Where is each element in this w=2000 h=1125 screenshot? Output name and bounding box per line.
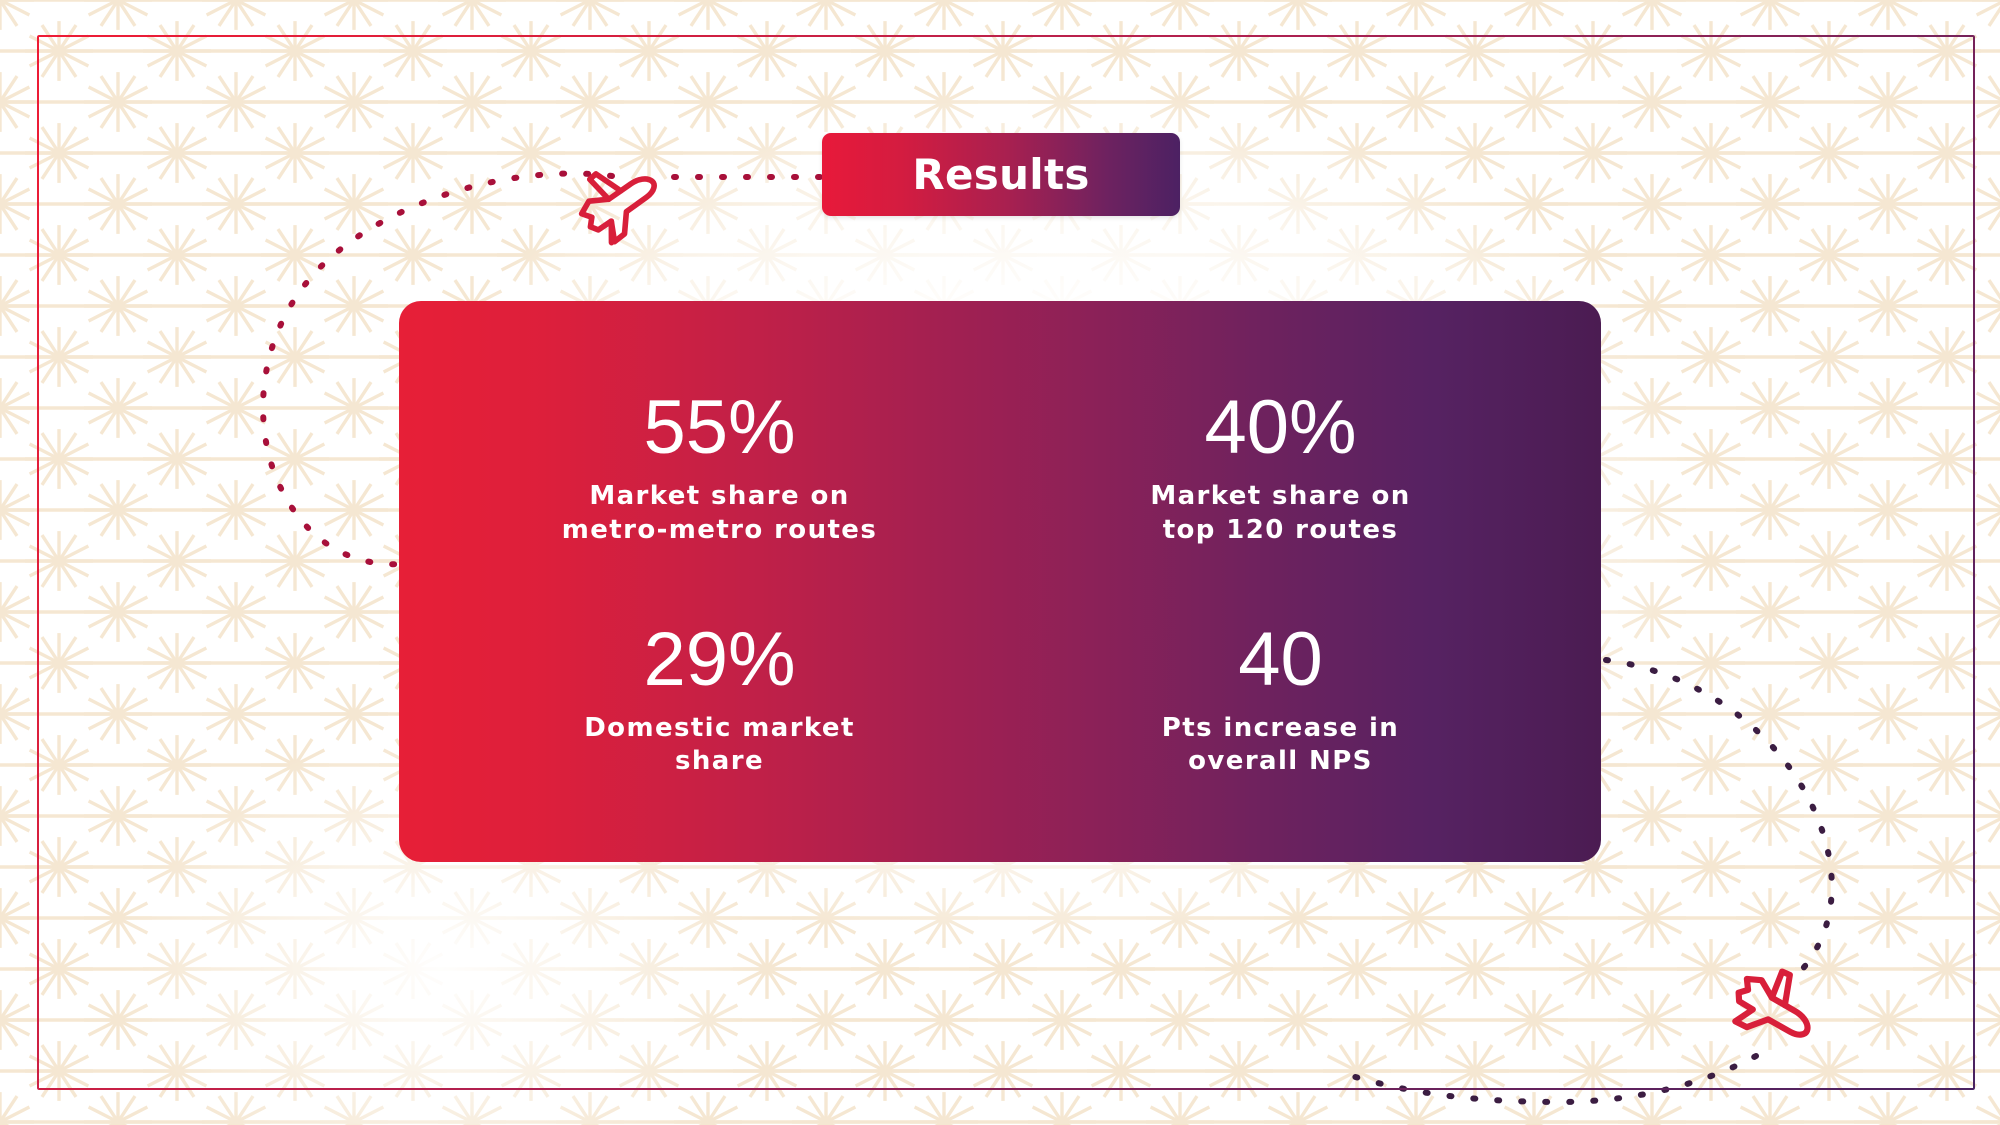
stat-item: 40% Market share on top 120 routes <box>1000 390 1561 547</box>
stat-value: 55% <box>439 390 1000 466</box>
stats-card: 55% Market share on metro-metro routes 4… <box>399 301 1601 862</box>
stat-description: Domestic market share <box>439 712 1000 779</box>
stat-item: 29% Domestic market share <box>439 622 1000 779</box>
stat-description: Market share on metro-metro routes <box>439 480 1000 547</box>
stat-value: 40% <box>1000 390 1561 466</box>
stat-item: 40 Pts increase in overall NPS <box>1000 622 1561 779</box>
results-badge: Results <box>822 133 1180 216</box>
stat-item: 55% Market share on metro-metro routes <box>439 390 1000 547</box>
stat-value: 29% <box>439 622 1000 698</box>
stat-value: 40 <box>1000 622 1561 698</box>
stat-description: Market share on top 120 routes <box>1000 480 1561 547</box>
stat-description: Pts increase in overall NPS <box>1000 712 1561 779</box>
slide-root: Results 55% Market share on metro-metro … <box>0 0 2000 1125</box>
results-badge-label: Results <box>912 150 1089 199</box>
